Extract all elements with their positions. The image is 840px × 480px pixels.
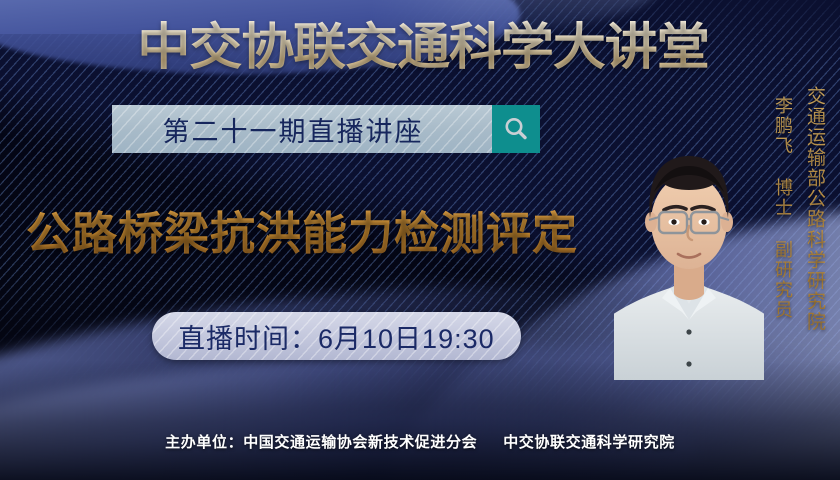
organizer-primary: 中国交通运输协会新技术促进分会: [243, 434, 477, 451]
lecture-subject-title: 公路桥梁抗洪能力检测评定: [26, 206, 578, 262]
speaker-name-title: 李鹏飞 博士 副研究员: [770, 96, 796, 320]
webinar-poster: 中交协联交通科学大讲堂 第二十一期直播讲座 公路桥梁抗洪能力检测评定 直播时间：…: [0, 0, 840, 480]
organizer-label: 主办单位：: [165, 434, 243, 451]
episode-search-field[interactable]: 第二十一期直播讲座: [112, 105, 492, 153]
speaker-portrait: [614, 118, 764, 380]
organizer-secondary: 中交协联交通科学研究院: [503, 434, 675, 451]
page-title: 中交协联交通科学大讲堂: [121, 18, 725, 76]
search-icon: [501, 114, 531, 144]
footer-organizers: 主办单位：中国交通运输协会新技术促进分会中交协联交通科学研究院: [0, 431, 840, 452]
live-time-badge: 直播时间：6月10日19:30: [152, 312, 521, 360]
episode-label: 第二十一期直播讲座: [163, 110, 442, 149]
search-button[interactable]: [492, 105, 540, 153]
live-time-text: 直播时间：6月10日19:30: [178, 317, 495, 356]
speaker-organization: 交通运输部公路科学研究院: [801, 86, 828, 332]
episode-search-bar[interactable]: 第二十一期直播讲座: [112, 105, 540, 153]
